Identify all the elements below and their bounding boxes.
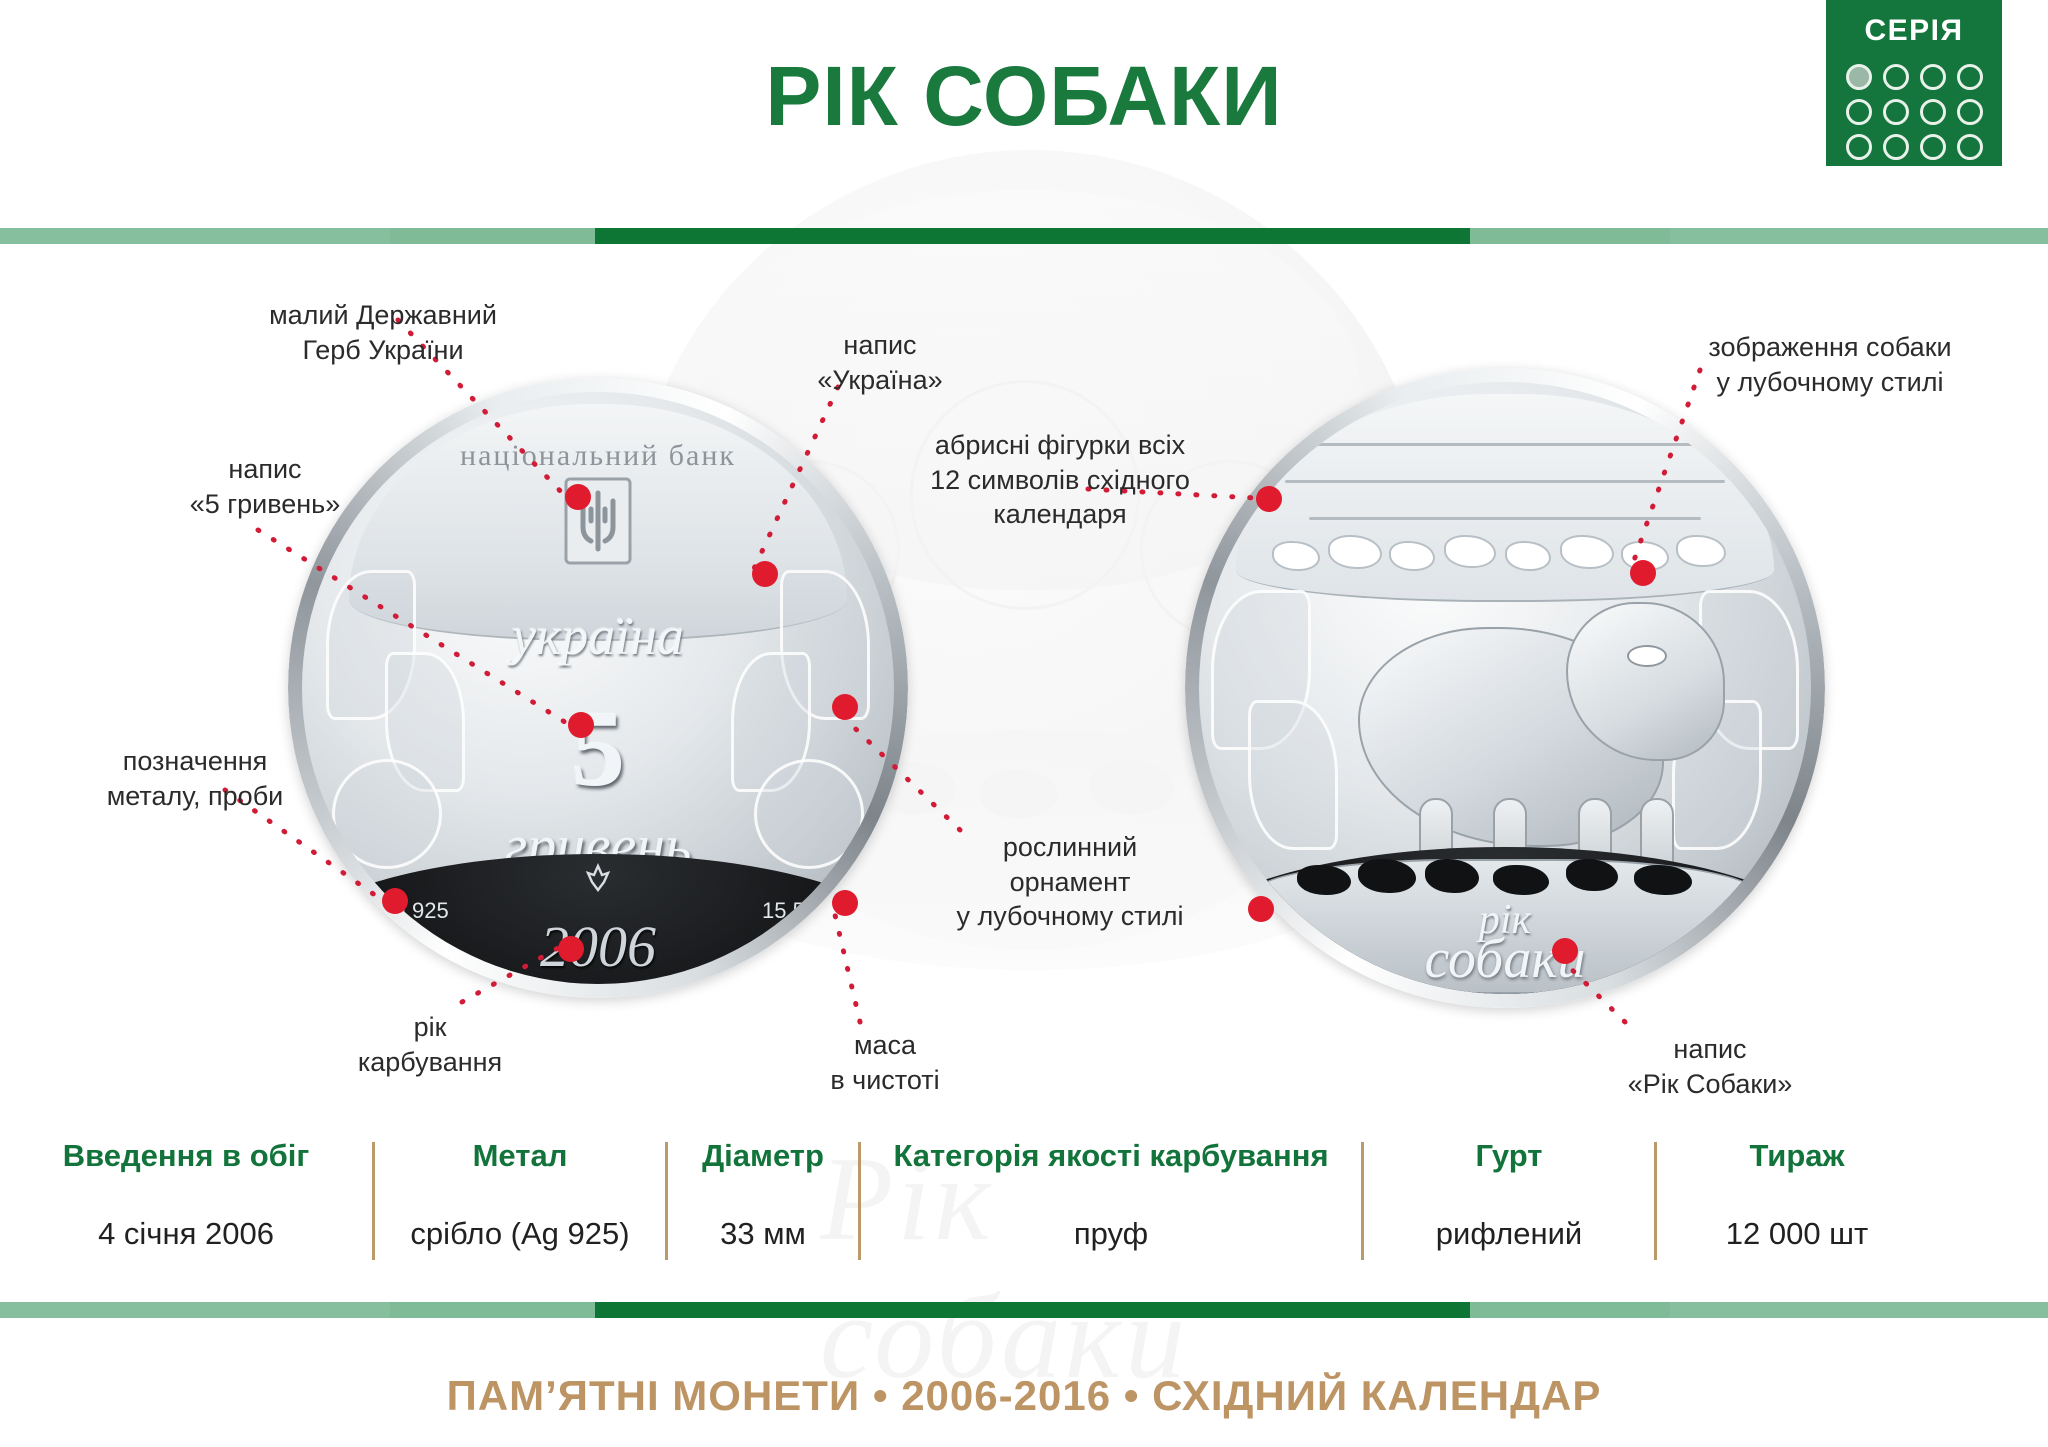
- spec-column-quality: Категорія якості карбування пруф: [861, 1138, 1361, 1278]
- series-dot: [1846, 99, 1872, 125]
- marker-zodiac-figures: [1256, 486, 1282, 512]
- callout-fine-weight: маса в чистоті: [790, 1028, 980, 1097]
- series-dot: [1920, 134, 1946, 160]
- spec-column-diameter: Діаметр 33 мм: [668, 1138, 858, 1278]
- marker-dog-image: [1630, 560, 1656, 586]
- spec-header: Категорія якості карбування: [893, 1138, 1328, 1174]
- callout-metal-mark: позначення металу, проби: [80, 744, 310, 813]
- callout-ukraine-legend: напис «Україна»: [790, 328, 970, 397]
- series-dot: [1883, 134, 1909, 160]
- spec-header: Гурт: [1476, 1138, 1543, 1174]
- obverse-year: 2006: [302, 913, 894, 980]
- series-dot: [1883, 64, 1909, 90]
- spec-column-metal: Метал срібло (Ag 925): [375, 1138, 665, 1278]
- nbu-mint-mark-icon: [585, 863, 611, 893]
- callout-five-hryvnia: напис «5 гривень»: [170, 452, 360, 521]
- spec-column-edge: Гурт рифлений: [1364, 1138, 1654, 1278]
- reverse-coin: рік собаки: [1185, 368, 1825, 1008]
- series-badge-dot-grid: [1840, 64, 1988, 160]
- marker-zodiac-bottom: [1248, 896, 1274, 922]
- series-dot: [1883, 99, 1909, 125]
- spec-header: Тираж: [1750, 1138, 1845, 1174]
- series-dot: [1957, 99, 1983, 125]
- infographic-page: Ріксобаки РІК СОБАКИ СЕРІЯ націон: [0, 0, 2048, 1447]
- spec-header: Діаметр: [702, 1138, 824, 1174]
- marker-ukraine-legend: [752, 561, 778, 587]
- spec-value: пруф: [1074, 1216, 1148, 1252]
- footer-caption: ПАМ’ЯТНІ МОНЕТИ • 2006-2016 • СХІДНИЙ КА…: [0, 1372, 2048, 1420]
- callout-floral-ornament: рослинний орнамент у лубочному стилі: [940, 830, 1200, 934]
- spec-header: Введення в обіг: [63, 1138, 310, 1174]
- spec-header: Метал: [473, 1138, 568, 1174]
- series-dot-filled: [1846, 64, 1872, 90]
- marker-metal-mark: [382, 888, 408, 914]
- callout-mint-year: рік карбування: [330, 1010, 530, 1079]
- divider-top: [0, 228, 2048, 244]
- spec-value: 4 січня 2006: [98, 1216, 274, 1252]
- callout-zodiac-figures: абрисні фігурки всіх 12 символів східног…: [910, 428, 1210, 532]
- series-dot: [1920, 99, 1946, 125]
- spec-column-circulation: Введення в обіг 4 січня 2006: [0, 1138, 372, 1278]
- series-dot: [1846, 134, 1872, 160]
- spec-value: срібло (Ag 925): [410, 1216, 629, 1252]
- marker-floral-ornament: [832, 694, 858, 720]
- series-badge: СЕРІЯ: [1826, 0, 2002, 166]
- obverse-arc-text: національний банк: [302, 439, 894, 473]
- specifications-table: Введення в обіг 4 січня 2006 Метал срібл…: [0, 1138, 2048, 1278]
- spec-value: рифлений: [1436, 1216, 1582, 1252]
- spec-value: 33 мм: [720, 1216, 806, 1252]
- obverse-coin: національний банк україна 5 гривень Ag 9…: [288, 378, 908, 998]
- callout-dog-image: зображення собаки у лубочному стилі: [1680, 330, 1980, 399]
- reverse-inscription-line2: собаки: [1199, 927, 1811, 991]
- series-dot: [1957, 64, 1983, 90]
- marker-state-emblem: [565, 484, 591, 510]
- spec-value: 12 000 шт: [1726, 1216, 1869, 1252]
- series-dot: [1920, 64, 1946, 90]
- callout-state-emblem: малий Державний Герб України: [248, 298, 518, 367]
- marker-five-hryvnia: [568, 712, 594, 738]
- divider-bottom: [0, 1302, 2048, 1318]
- marker-dog-year-legend: [1552, 938, 1578, 964]
- spec-column-mintage: Тираж 12 000 шт: [1657, 1138, 1937, 1278]
- series-dot: [1957, 134, 1983, 160]
- callout-dog-year-legend: напис «Рік Собаки»: [1590, 1032, 1830, 1101]
- marker-mint-year: [558, 936, 584, 962]
- page-title: РІК СОБАКИ: [0, 48, 2048, 145]
- marker-fine-weight: [832, 890, 858, 916]
- series-badge-label: СЕРІЯ: [1826, 14, 2002, 48]
